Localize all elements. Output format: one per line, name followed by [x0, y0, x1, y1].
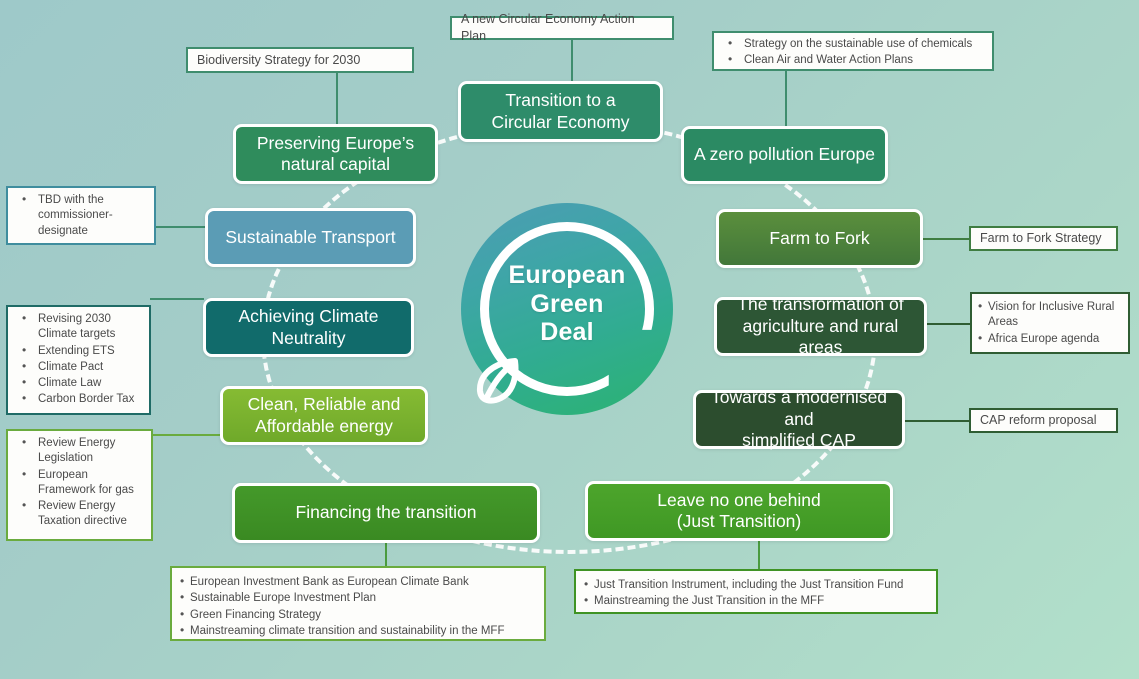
callout-item: Review Energy Taxation directive — [14, 499, 144, 530]
node-label: Achieving Climate Neutrality — [238, 306, 378, 349]
node-clean-reliable-affordable-energy[interactable]: Clean, Reliable and Affordable energy — [220, 386, 428, 445]
node-label: Clean, Reliable and Affordable energy — [248, 394, 401, 437]
green-deal-diagram: European Green Deal Transition to a Circ… — [0, 0, 1139, 679]
lead-energy — [153, 434, 221, 436]
lead-transport — [155, 226, 206, 228]
callout-item: Mainstreaming climate transition and sus… — [180, 624, 536, 639]
node-achieving-climate-neutrality[interactable]: Achieving Climate Neutrality — [203, 298, 414, 357]
hub-title-line-1: European — [461, 261, 673, 290]
callout-item: Clean Air and Water Action Plans — [720, 53, 985, 68]
callout-item: Climate Law — [14, 376, 142, 391]
hub-title-line-3: Deal — [461, 318, 673, 347]
lead-zero-pollution — [785, 70, 787, 126]
node-label: Towards a modernised and simplified CAP — [706, 387, 892, 451]
node-transformation-agriculture-rural[interactable]: The transformation of agriculture and ru… — [714, 297, 927, 356]
callout-biodiversity[interactable]: Biodiversity Strategy for 2030 — [186, 47, 414, 73]
callout-item: European Framework for gas — [14, 468, 144, 499]
callout-farm-to-fork[interactable]: Farm to Fork Strategy — [969, 226, 1118, 251]
callout-item: Vision for Inclusive Rural Areas — [978, 300, 1122, 331]
node-leave-no-one-behind[interactable]: Leave no one behind (Just Transition) — [585, 481, 893, 541]
callout-circular-economy[interactable]: A new Circular Economy Action Plan — [450, 16, 674, 40]
callout-item: Review Energy Legislation — [14, 436, 144, 467]
leaf-icon — [471, 351, 529, 409]
callout-transport[interactable]: TBD with the commissioner-designate — [6, 186, 156, 245]
callout-text: CAP reform proposal — [980, 412, 1097, 429]
node-farm-to-fork[interactable]: Farm to Fork — [716, 209, 923, 268]
callout-item: TBD with the commissioner-designate — [14, 193, 147, 239]
node-label: A zero pollution Europe — [694, 144, 875, 165]
callout-text: Farm to Fork Strategy — [980, 230, 1102, 247]
node-label: Farm to Fork — [769, 228, 869, 249]
callout-item: Climate Pact — [14, 360, 142, 375]
lead-financing — [385, 543, 387, 567]
node-zero-pollution-europe[interactable]: A zero pollution Europe — [681, 126, 888, 184]
node-preserving-natural-capital[interactable]: Preserving Europe’s natural capital — [233, 124, 438, 184]
lead-circular-economy — [571, 39, 573, 84]
lead-just-transition — [758, 541, 760, 569]
callout-item: Carbon Border Tax — [14, 392, 142, 407]
node-sustainable-transport[interactable]: Sustainable Transport — [205, 208, 416, 267]
node-financing-the-transition[interactable]: Financing the transition — [232, 483, 540, 543]
callout-financing[interactable]: European Investment Bank as European Cli… — [170, 566, 546, 641]
node-label: Preserving Europe’s natural capital — [257, 133, 414, 176]
lead-climate-neutrality — [150, 298, 204, 300]
lead-farm-to-fork — [923, 238, 971, 240]
callout-item: Sustainable Europe Investment Plan — [180, 591, 536, 606]
node-towards-modernised-cap[interactable]: Towards a modernised and simplified CAP — [693, 390, 905, 449]
node-label: The transformation of agriculture and ru… — [727, 294, 914, 358]
lead-cap — [905, 420, 971, 422]
callout-item: Mainstreaming the Just Transition in the… — [584, 594, 928, 609]
callout-item: Strategy on the sustainable use of chemi… — [720, 37, 985, 52]
callout-energy[interactable]: Review Energy Legislation European Frame… — [6, 429, 153, 541]
callout-just-transition[interactable]: Just Transition Instrument, including th… — [574, 569, 938, 614]
callout-item: Just Transition Instrument, including th… — [584, 578, 928, 593]
node-label: Financing the transition — [296, 502, 477, 523]
callout-zero-pollution[interactable]: Strategy on the sustainable use of chemi… — [712, 31, 994, 71]
callout-item: Revising 2030 Climate targets — [14, 312, 142, 343]
hub-title: European Green Deal — [461, 261, 673, 347]
callout-item: Extending ETS — [14, 344, 142, 359]
node-transition-circular-economy[interactable]: Transition to a Circular Economy — [458, 81, 663, 142]
callout-text: A new Circular Economy Action Plan — [461, 11, 663, 44]
callout-item: European Investment Bank as European Cli… — [180, 575, 536, 590]
callout-agriculture[interactable]: Vision for Inclusive Rural Areas Africa … — [970, 292, 1130, 354]
callout-text: Biodiversity Strategy for 2030 — [197, 52, 360, 69]
lead-biodiversity — [336, 72, 338, 126]
node-label: Sustainable Transport — [225, 227, 395, 248]
node-label: Transition to a Circular Economy — [491, 90, 629, 133]
callout-climate-neutrality[interactable]: Revising 2030 Climate targets Extending … — [6, 305, 151, 415]
callout-cap[interactable]: CAP reform proposal — [969, 408, 1118, 433]
central-hub: European Green Deal — [461, 203, 673, 415]
callout-item: Africa Europe agenda — [978, 332, 1122, 347]
lead-agriculture — [927, 323, 972, 325]
hub-title-line-2: Green — [461, 290, 673, 319]
node-label: Leave no one behind (Just Transition) — [657, 490, 820, 533]
callout-item: Green Financing Strategy — [180, 608, 536, 623]
